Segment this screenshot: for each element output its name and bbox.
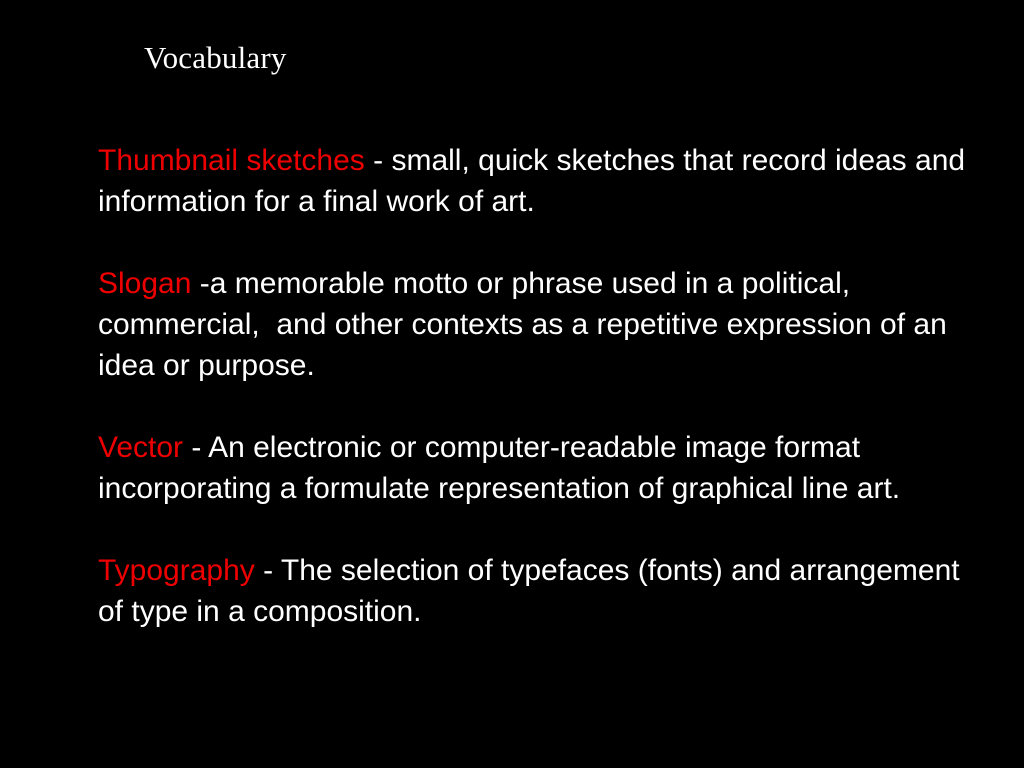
vocabulary-definition: -a memorable motto or phrase used in a p… (98, 267, 955, 382)
slide-canvas: Vocabulary Thumbnail sketches - small, q… (0, 0, 1024, 768)
list-item: Vector - An electronic or computer-reada… (98, 427, 978, 509)
page-title: Vocabulary (144, 40, 287, 76)
vocabulary-term: Thumbnail sketches (98, 144, 365, 177)
vocabulary-term: Vector (98, 431, 183, 464)
list-item: Typography - The selection of typefaces … (98, 550, 978, 632)
list-item: Thumbnail sketches - small, quick sketch… (98, 140, 978, 222)
list-item: Slogan -a memorable motto or phrase used… (98, 263, 978, 386)
vocabulary-list: Thumbnail sketches - small, quick sketch… (98, 140, 978, 632)
vocabulary-term: Typography (98, 554, 255, 587)
vocabulary-definition: - An electronic or computer-readable ima… (98, 431, 900, 505)
vocabulary-term: Slogan (98, 267, 191, 300)
